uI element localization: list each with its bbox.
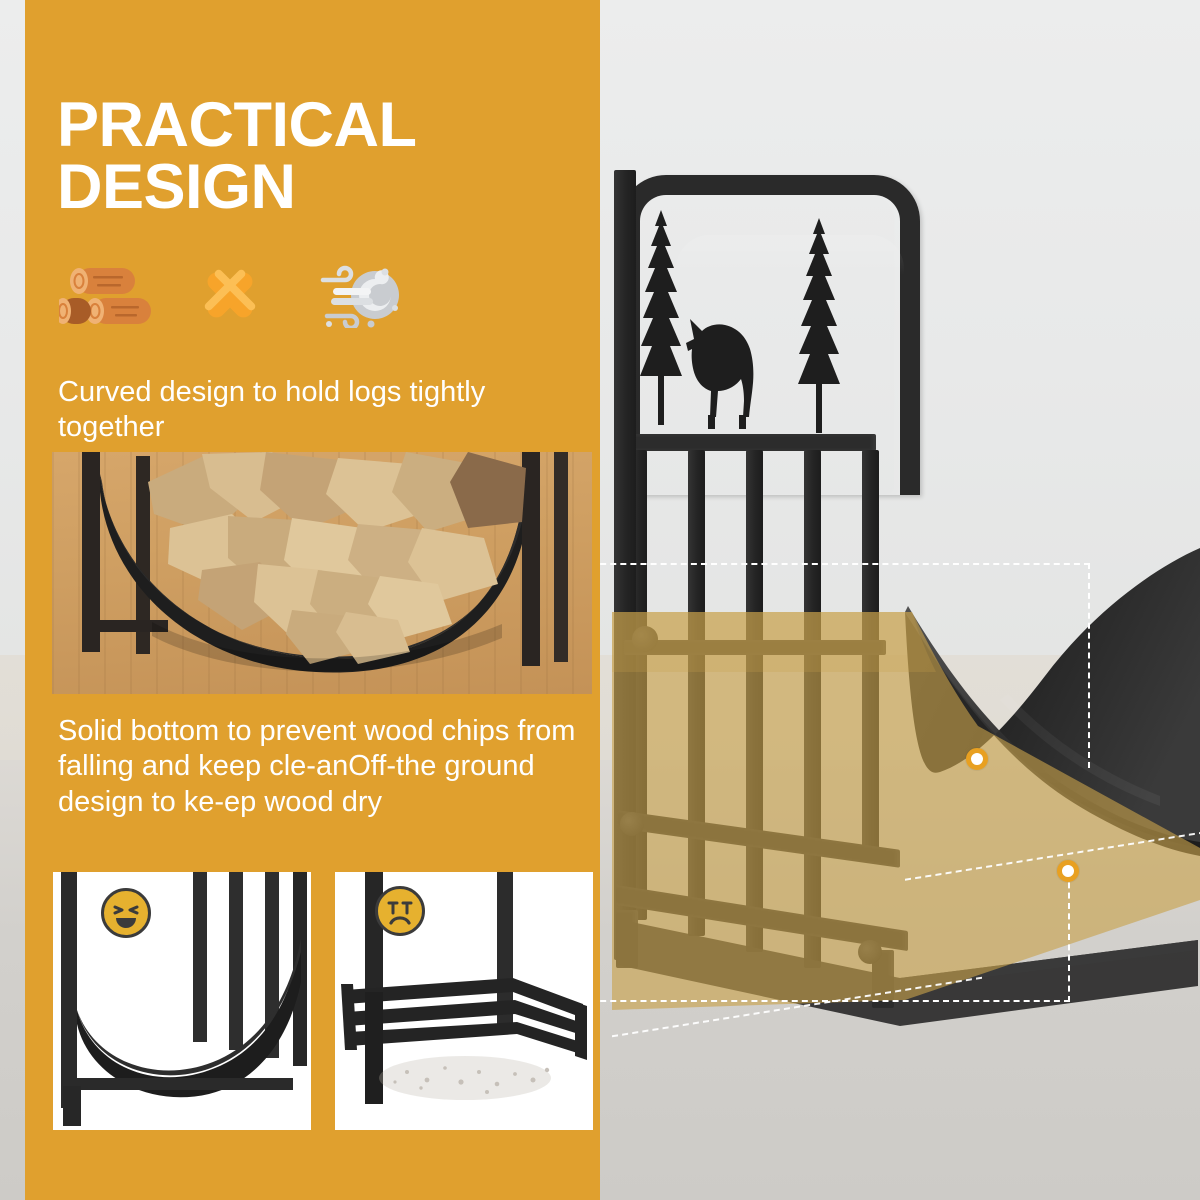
photo-slatted-bottom-bad: [335, 872, 593, 1130]
feature-icon-row: [59, 255, 559, 335]
bear-silhouette: [680, 305, 766, 435]
bolt-upper: [632, 626, 658, 652]
bolt-mid: [620, 812, 644, 836]
rack-base-deck: [600, 790, 1200, 1090]
title-line-1: PRACTICAL: [57, 95, 577, 157]
wind-dust-icon: [305, 262, 401, 328]
bolt-lower: [858, 940, 882, 964]
caption-solid-bottom: Solid bottom to prevent wood chips from …: [58, 714, 588, 820]
photo-firewood-rack: [52, 452, 592, 694]
pine-tree-silhouette-left: [638, 210, 684, 425]
bad-face-icon: [375, 886, 425, 936]
product-marketing-image: PRACTICAL DESIGN: [0, 0, 1200, 1200]
rack-upper-crossrail: [624, 434, 876, 451]
curve-bottom-marker[interactable]: [1057, 860, 1079, 882]
info-panel: PRACTICAL DESIGN: [25, 0, 600, 1200]
pine-tree-silhouette-right: [796, 218, 842, 433]
hoop-sheen: [676, 235, 904, 275]
rack-mid-rail: [624, 640, 886, 655]
cross-x-icon: [193, 262, 267, 328]
photo-solid-bottom-good: [53, 872, 311, 1130]
caption-curved-design: Curved design to hold logs tightly toget…: [58, 375, 573, 446]
wood-logs-icon: [59, 262, 155, 328]
good-face-icon: [101, 888, 151, 938]
page-title: PRACTICAL DESIGN: [57, 95, 577, 218]
dimension-line-right-upper: [1088, 563, 1090, 768]
title-line-2: DESIGN: [57, 157, 577, 219]
curve-top-marker[interactable]: [966, 748, 988, 770]
dimension-line-top: [580, 563, 1090, 565]
dimension-line-right-lower: [1068, 872, 1070, 1002]
log-rack-frame: [600, 150, 1200, 1030]
